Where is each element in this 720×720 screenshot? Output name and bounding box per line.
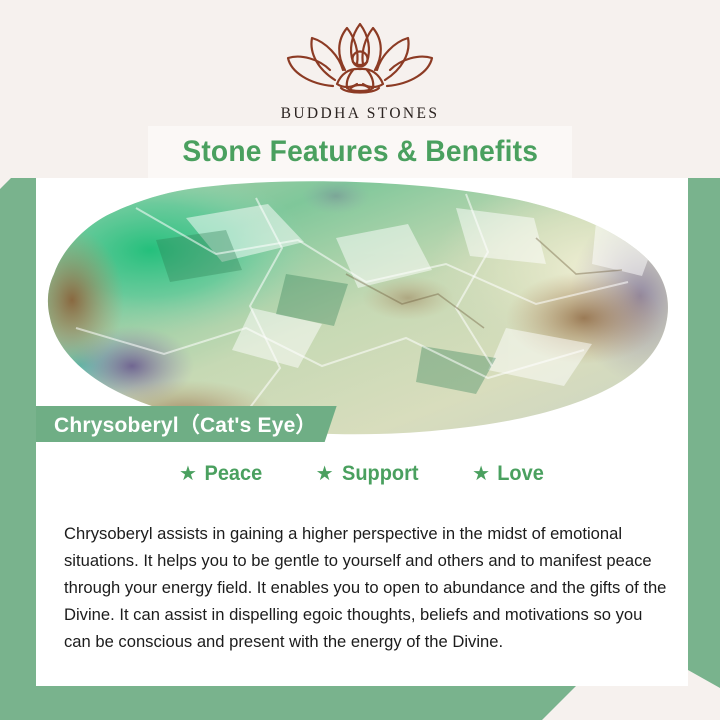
benefit-item-support: ★ Support [316, 462, 420, 486]
stone-info-poster: BUDDHA STONES Stone Features & Benefits [0, 0, 720, 720]
star-icon: ★ [179, 464, 197, 484]
benefit-label: Support [342, 462, 418, 486]
star-icon: ★ [316, 464, 334, 484]
stone-photo [36, 178, 688, 436]
benefit-label: Peace [204, 462, 262, 486]
benefit-label: Love [497, 462, 544, 486]
stone-name-banner: Chrysoberyl（Cat's Eye） [36, 406, 337, 442]
stone-description: Chrysoberyl assists in gaining a higher … [64, 520, 668, 655]
page-title: Stone Features & Benefits [182, 135, 538, 169]
star-icon: ★ [472, 464, 490, 484]
benefit-item-peace: ★ Peace [179, 462, 264, 486]
benefit-item-love: ★ Love [472, 462, 545, 486]
brand-name: BUDDHA STONES [0, 105, 720, 123]
frame-bottom-accent [0, 686, 576, 720]
page-title-band: Stone Features & Benefits [148, 126, 572, 178]
benefits-row: ★ Peace ★ Support ★ Love [36, 462, 688, 486]
stone-name: Chrysoberyl（Cat's Eye） [54, 409, 317, 439]
lotus-meditation-icon [0, 18, 720, 101]
frame-left-accent [0, 175, 36, 687]
frame-right-accent [688, 140, 720, 688]
brand-logo: BUDDHA STONES [0, 18, 720, 123]
